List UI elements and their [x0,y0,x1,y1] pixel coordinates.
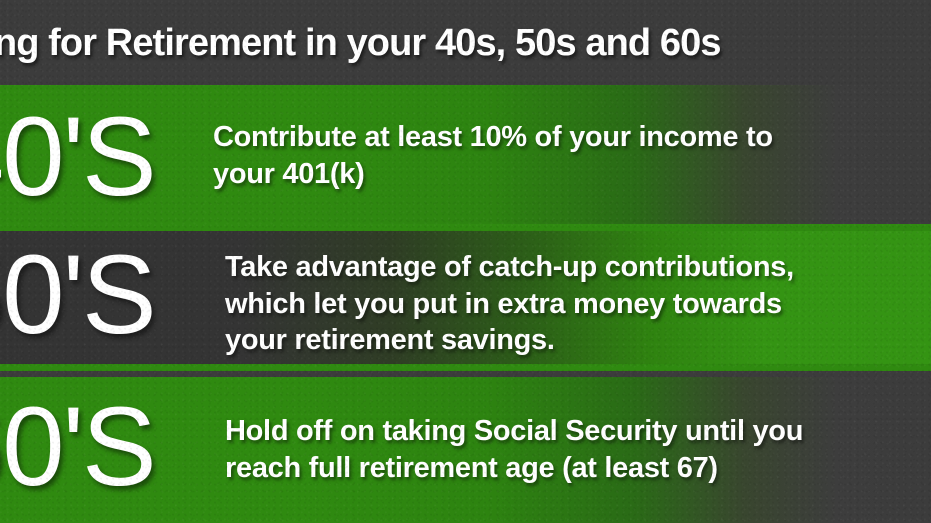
header-band: ving for Retirement in your 40s, 50s and… [0,0,931,85]
advice-line: which let you put in extra money towards [225,286,897,323]
advice-line: your retirement savings. [225,322,897,359]
decade-label-50s: 50'S [0,239,155,351]
retirement-infographic: ving for Retirement in your 40s, 50s and… [0,0,931,523]
decade-row-40s: 40'S Contribute at least 10% of your inc… [0,85,931,229]
advice-line: Take advantage of catch-up contributions… [225,249,897,286]
decade-row-60s: 60'S Hold off on taking Social Security … [0,377,931,523]
advice-line: Contribute at least 10% of your income t… [213,119,873,156]
advice-text-40s: Contribute at least 10% of your income t… [213,119,873,192]
decade-label-40s: 40'S [0,101,155,213]
advice-line: reach full retirement age (at least 67) [225,450,885,487]
advice-line: Hold off on taking Social Security until… [225,413,885,450]
divider-strip-top [0,224,931,231]
page-title: ving for Retirement in your 40s, 50s and… [0,22,721,65]
advice-text-60s: Hold off on taking Social Security until… [225,413,885,486]
decade-row-50s: 50'S Take advantage of catch-up contribu… [0,231,931,364]
advice-text-50s: Take advantage of catch-up contributions… [225,249,897,359]
advice-line: your 401(k) [213,156,873,193]
decade-label-60s: 60'S [0,391,155,503]
divider-strip-bottom [0,364,931,371]
